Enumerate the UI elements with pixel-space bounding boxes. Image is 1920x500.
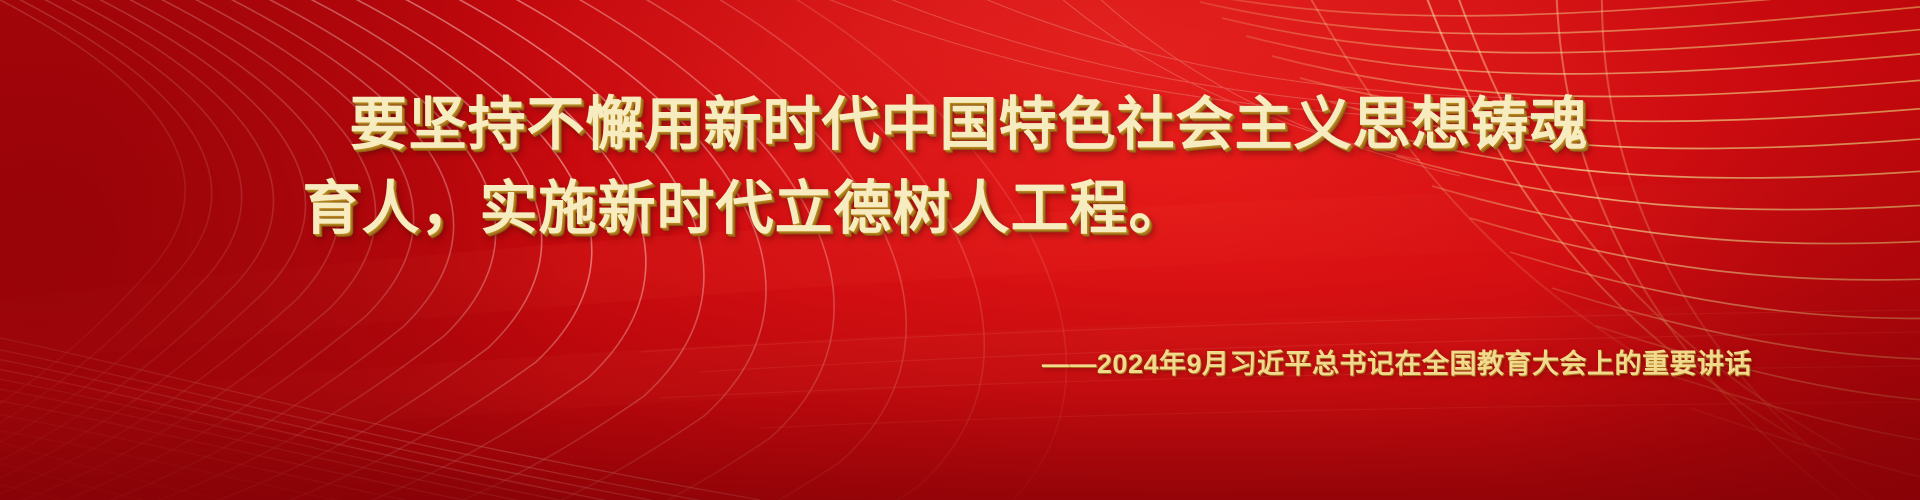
banner-content: 要坚持不懈用新时代中国特色社会主义思想铸魂 育人，实施新时代立德树人工程。 ——… [0, 0, 1920, 500]
attribution-text: ——2024年9月习近平总书记在全国教育大会上的重要讲话 [1042, 342, 1752, 381]
headline-line-1: 要坚持不懈用新时代中国特色社会主义思想铸魂 [0, 96, 1920, 154]
headline-line-2: 育人，实施新时代立德树人工程。 [0, 180, 1920, 238]
headline: 要坚持不懈用新时代中国特色社会主义思想铸魂 育人，实施新时代立德树人工程。 [0, 96, 1920, 238]
banner-root: 要坚持不懈用新时代中国特色社会主义思想铸魂 育人，实施新时代立德树人工程。 ——… [0, 0, 1920, 500]
